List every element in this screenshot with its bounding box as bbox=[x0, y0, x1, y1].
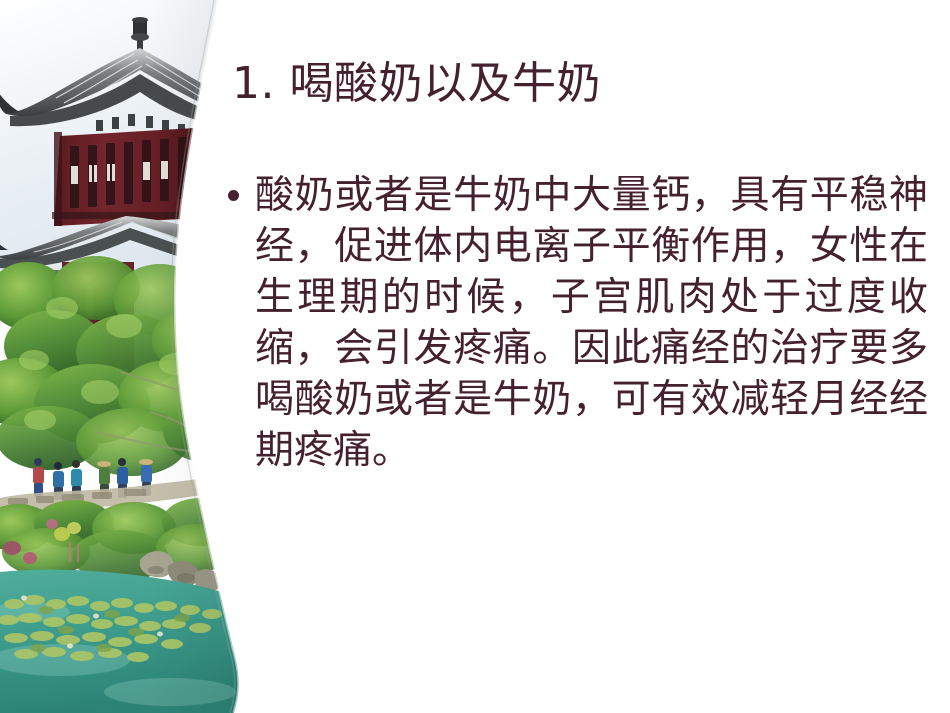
title-text: 喝酸奶以及牛奶 bbox=[289, 58, 601, 109]
page-title: 1. 喝酸奶以及牛奶 bbox=[232, 56, 932, 112]
title-number: 1. bbox=[232, 58, 275, 109]
bullet-marker-icon bbox=[228, 190, 239, 201]
pine-trees bbox=[0, 256, 247, 476]
body-content: 酸奶或者是牛奶中大量钙，具有平稳神经，促进体内电离子平衡作用，女性在生理期的时候… bbox=[228, 170, 928, 476]
presentation-slide: 1. 喝酸奶以及牛奶 酸奶或者是牛奶中大量钙，具有平稳神经，促进体内电离子平衡作… bbox=[0, 0, 950, 713]
bullet-paragraph: 酸奶或者是牛奶中大量钙，具有平稳神经，促进体内电离子平衡作用，女性在生理期的时候… bbox=[255, 170, 928, 476]
photo-illustration bbox=[0, 0, 250, 713]
pagoda-garden-photo bbox=[0, 0, 250, 713]
